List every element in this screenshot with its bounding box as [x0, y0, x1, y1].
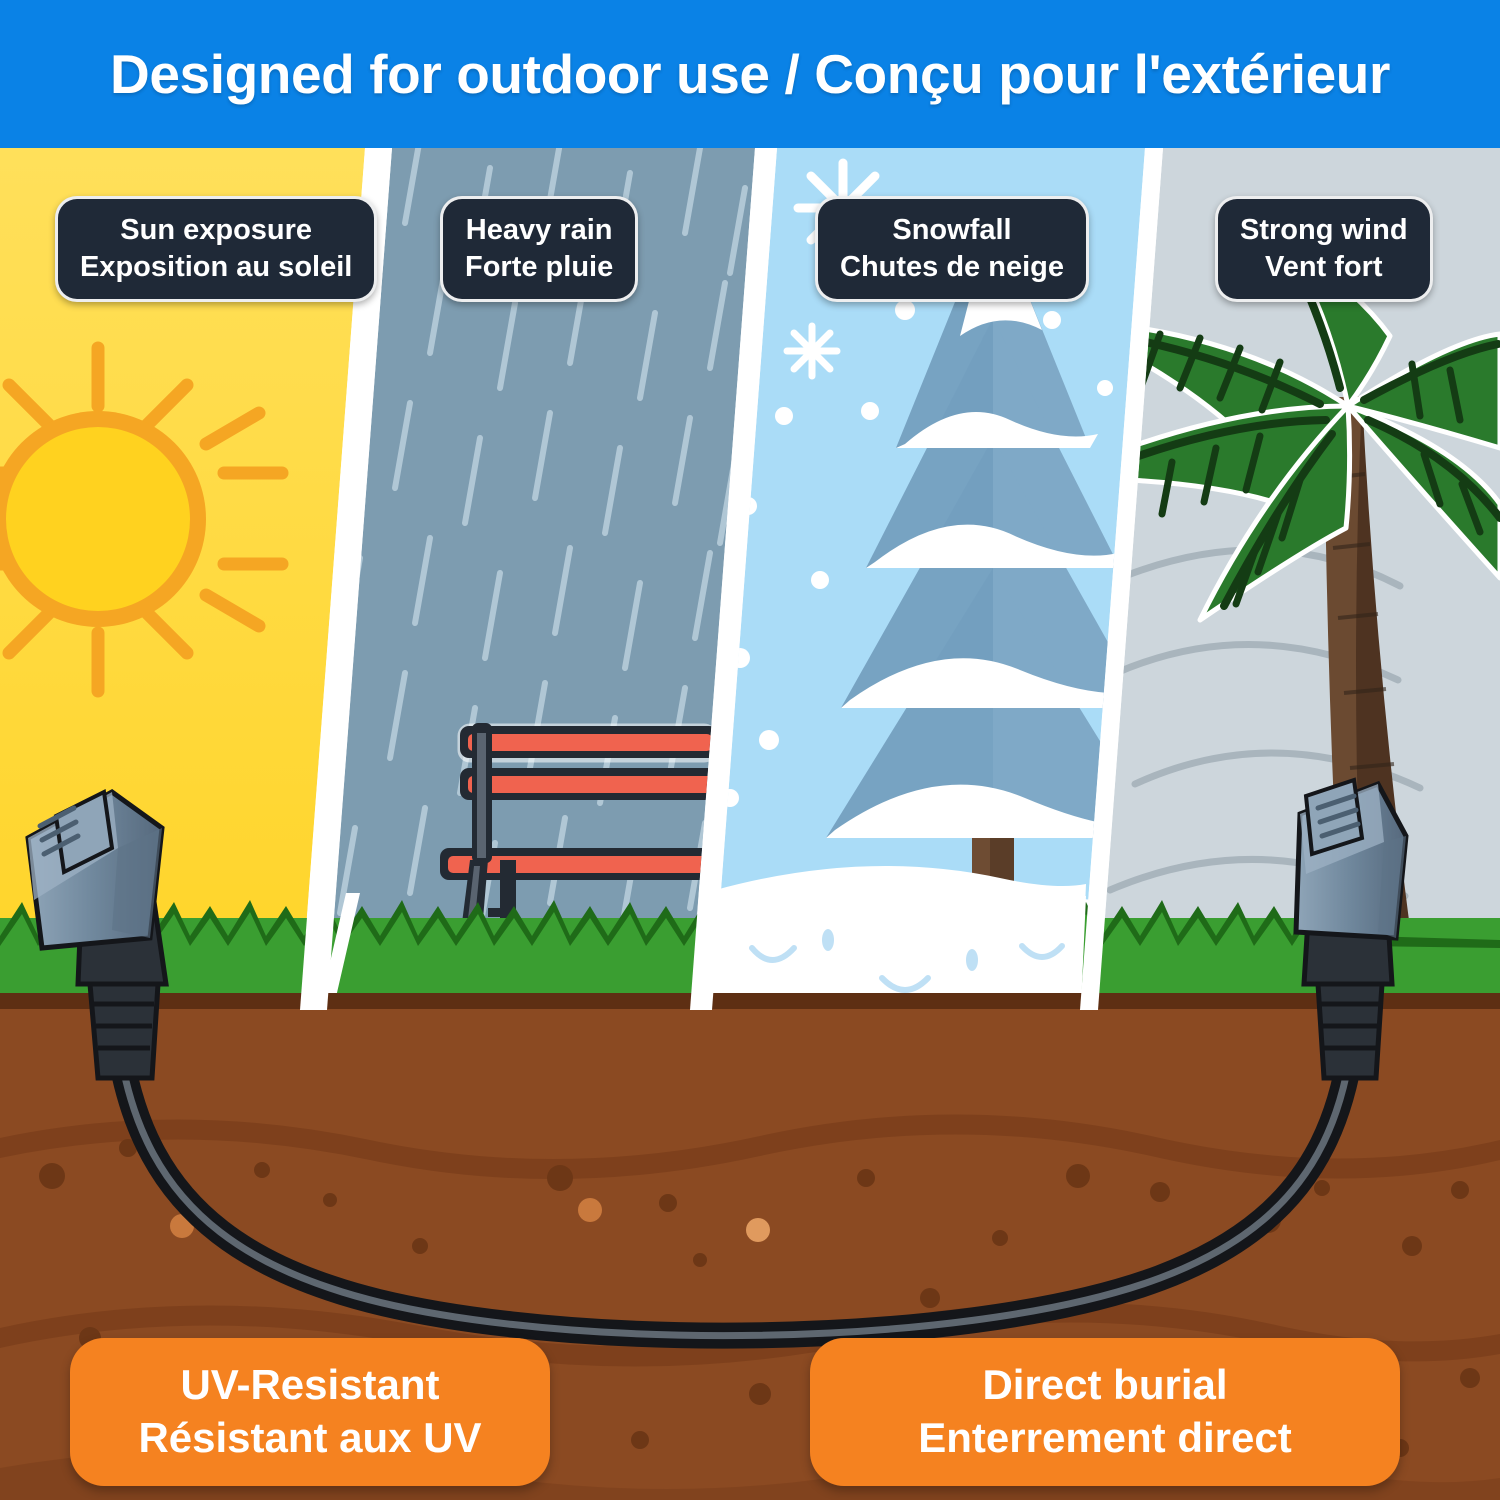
infographic-root: Designed for outdoor use / Conçu pour l'…	[0, 0, 1500, 1500]
badge-heavy-rain[interactable]: Heavy rain Forte pluie	[440, 196, 638, 302]
badge-sun-label-fr: Exposition au soleil	[80, 249, 352, 286]
badge-strong-wind[interactable]: Strong wind Vent fort	[1215, 196, 1433, 302]
pill-uv-label-en: UV-Resistant	[180, 1359, 439, 1412]
scene-svg	[0, 148, 1500, 1500]
badge-wind-label-en: Strong wind	[1240, 212, 1408, 249]
snowflake-star-small-icon	[787, 326, 837, 376]
pill-burial-label-en: Direct burial	[982, 1359, 1227, 1412]
badge-rain-label-en: Heavy rain	[466, 212, 613, 249]
badge-rain-label-fr: Forte pluie	[465, 249, 613, 286]
header-banner: Designed for outdoor use / Conçu pour l'…	[0, 0, 1500, 148]
badge-sun-exposure[interactable]: Sun exposure Exposition au soleil	[55, 196, 377, 302]
weather-scene	[0, 148, 1500, 1500]
feature-pill-direct-burial[interactable]: Direct burial Enterrement direct	[810, 1338, 1400, 1486]
badge-wind-label-fr: Vent fort	[1265, 249, 1383, 286]
feature-pill-uv-resistant[interactable]: UV-Resistant Résistant aux UV	[70, 1338, 550, 1486]
pill-uv-label-fr: Résistant aux UV	[138, 1412, 481, 1465]
badge-snow-label-fr: Chutes de neige	[840, 249, 1064, 286]
banner-title: Designed for outdoor use / Conçu pour l'…	[110, 42, 1390, 106]
badge-sun-label-en: Sun exposure	[120, 212, 312, 249]
badge-snowfall[interactable]: Snowfall Chutes de neige	[815, 196, 1089, 302]
badge-snow-label-en: Snowfall	[892, 212, 1011, 249]
pill-burial-label-fr: Enterrement direct	[918, 1412, 1291, 1465]
